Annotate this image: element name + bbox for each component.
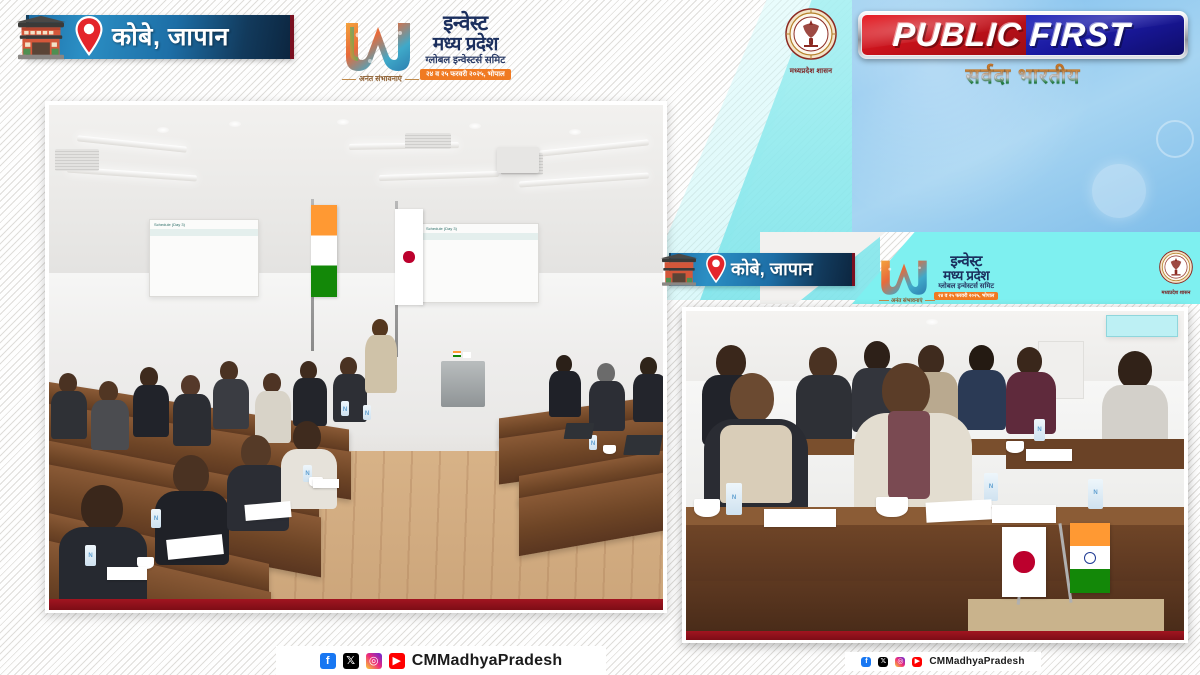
secondary-banner: कोबे, जापान इन्वेस्ट मध्य प्रदेश ग्लोबल … <box>655 246 1200 308</box>
wall-display <box>1106 315 1178 337</box>
social-handle-text: CMMadhyaPradesh <box>929 656 1024 667</box>
summit-date-badge: २४ व २५ फरवरी २०२५, भोपाल <box>420 69 511 80</box>
summit-logo-wordmark: इन्वेस्ट मध्य प्रदेश ग्लोबल इन्वेस्टर्स … <box>420 13 511 80</box>
government-emblem-label: मध्यप्रदेश शासन <box>776 67 846 76</box>
japanese-temple-icon <box>659 253 699 287</box>
channel-name-first: FIRST <box>1029 16 1132 54</box>
youtube-icon[interactable]: ▶ <box>389 653 405 669</box>
instagram-icon[interactable]: ◎ <box>366 653 382 669</box>
main-photo: Schedule (Day 3) Schedule (Day 3) <box>45 101 667 613</box>
delegation-closeup-scene <box>686 311 1184 631</box>
secondary-summit-date-badge: २४ व २५ फरवरी २०२५, भोपाल <box>934 292 998 300</box>
channel-tagline: सर्वदा भारतीय <box>858 62 1188 90</box>
facebook-icon[interactable]: f <box>861 657 871 667</box>
lectern <box>441 361 485 407</box>
summit-logo: इन्वेस्ट मध्य प्रदेश ग्लोबल इन्वेस्टर्स … <box>340 4 536 88</box>
summit-tagline: अनंत संभावनाएं <box>342 74 419 84</box>
channel-logo-blue-half: FIRST <box>1026 15 1184 55</box>
youtube-icon[interactable]: ▶ <box>912 657 922 667</box>
summit-logo-line2: मध्य प्रदेश <box>433 35 498 54</box>
map-pin-icon <box>74 14 104 58</box>
secondary-summit-line2: मध्य प्रदेश <box>943 269 989 283</box>
india-desk-flag <box>1070 523 1110 593</box>
infinity-mosaic-icon <box>877 253 931 301</box>
desk-flag-stand <box>968 599 1164 631</box>
desk-flags <box>453 351 471 367</box>
location-banner: कोबे, जापान <box>8 13 294 61</box>
secondary-summit-tagline: अनंत संभावनाएं <box>879 296 935 304</box>
government-emblem: मध्यप्रदेश शासन <box>776 8 846 76</box>
india-flag <box>311 205 337 297</box>
secondary-emblem-label: मध्यप्रदेश शासन <box>1150 290 1200 296</box>
secondary-location-banner: कोबे, जापान <box>655 252 855 288</box>
summit-logo-line3: ग्लोबल इन्वेस्टर्स समिट <box>426 56 506 66</box>
instagram-icon[interactable]: ◎ <box>895 657 905 667</box>
channel-name-public: PUBLIC <box>892 16 1024 54</box>
secondary-summit-line1: इन्वेस्ट <box>950 254 982 269</box>
slide-title-left: Schedule (Day 3) <box>154 222 185 227</box>
x-twitter-icon[interactable]: 𝕏 <box>878 657 888 667</box>
projection-screen-right: Schedule (Day 3) <box>421 223 539 303</box>
social-handle-text: CMMadhyaPradesh <box>412 652 563 670</box>
inset-photo-bottom-accent <box>686 631 1184 640</box>
social-handle-bar-main: f 𝕏 ◎ ▶ CMMadhyaPradesh <box>276 646 606 675</box>
summit-logo-line1: इन्वेस्ट <box>443 13 488 34</box>
main-photo-bottom-accent <box>49 599 663 610</box>
x-twitter-icon[interactable]: 𝕏 <box>343 653 359 669</box>
mp-government-seal-icon <box>1159 250 1193 284</box>
secondary-government-emblem: मध्यप्रदेश शासन <box>1150 250 1200 296</box>
channel-logo-red-half: PUBLIC <box>862 15 1026 55</box>
location-text: कोबे, जापान <box>112 17 229 57</box>
secondary-summit-line3: ग्लोबल इन्वेस्टर्स समिट <box>938 283 994 290</box>
japan-flag <box>395 209 423 305</box>
channel-logo: PUBLIC FIRST <box>858 11 1188 59</box>
main-photo-frame: Schedule (Day 3) Schedule (Day 3) <box>49 105 663 599</box>
decorative-circle <box>1092 164 1146 218</box>
map-pin-icon <box>705 252 727 285</box>
secondary-summit-logo: इन्वेस्ट मध्य प्रदेश ग्लोबल इन्वेस्टर्स … <box>877 248 1017 306</box>
broadcast-graphic-canvas: कोबे, जापान इन्वेस्ट मध <box>0 0 1200 675</box>
conference-room-scene: Schedule (Day 3) Schedule (Day 3) <box>49 105 663 599</box>
japan-desk-flag <box>1002 527 1046 597</box>
decorative-circle-outline <box>1156 120 1194 158</box>
secondary-location-text: कोबे, जापान <box>731 254 813 284</box>
projection-screen-left: Schedule (Day 3) <box>149 219 259 297</box>
facebook-icon[interactable]: f <box>320 653 336 669</box>
slide-title-right: Schedule (Day 3) <box>426 226 457 231</box>
infinity-mosaic-icon <box>340 13 416 79</box>
secondary-summit-wordmark: इन्वेस्ट मध्य प्रदेश ग्लोबल इन्वेस्टर्स … <box>934 254 998 301</box>
inset-photo-frame <box>686 311 1184 631</box>
inset-photo <box>682 307 1188 643</box>
social-handle-bar-inset: f 𝕏 ◎ ▶ CMMadhyaPradesh <box>845 652 1041 671</box>
mp-government-seal-icon <box>785 8 837 60</box>
japanese-temple-icon <box>14 15 68 61</box>
